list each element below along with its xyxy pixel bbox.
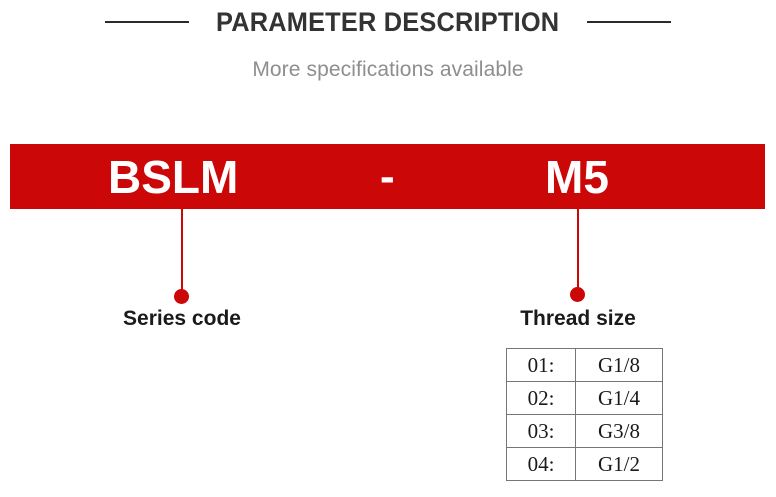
thread-value-cell: G1/4 xyxy=(576,382,663,415)
thread-size-table: 01: G1/8 02: G1/4 03: G3/8 04: G1/2 xyxy=(506,348,663,481)
model-code-banner: BSLM - M5 xyxy=(10,144,765,209)
header-rule-right-icon xyxy=(587,21,671,23)
table-row: 01: G1/8 xyxy=(507,349,663,382)
callout-line-thread-size xyxy=(577,209,579,289)
thread-value-cell: G1/8 xyxy=(576,349,663,382)
header-rule-left-icon xyxy=(105,21,189,23)
page-title: PARAMETER DESCRIPTION xyxy=(216,7,559,38)
thread-code-cell: 03: xyxy=(507,415,576,448)
callout-dot-thread-size xyxy=(570,287,585,302)
banner-series-code: BSLM xyxy=(108,144,238,209)
table-row: 04: G1/2 xyxy=(507,448,663,481)
thread-code-cell: 01: xyxy=(507,349,576,382)
table-row: 03: G3/8 xyxy=(507,415,663,448)
callout-label-series-code: Series code xyxy=(81,307,283,331)
page-subtitle: More specifications available xyxy=(0,58,776,82)
parameter-description-page: PARAMETER DESCRIPTION More specification… xyxy=(0,0,776,497)
callout-label-thread-size: Thread size xyxy=(477,307,679,331)
callout-dot-series-code xyxy=(174,289,189,304)
thread-code-cell: 02: xyxy=(507,382,576,415)
banner-thread-size: M5 xyxy=(545,144,609,209)
page-header: PARAMETER DESCRIPTION xyxy=(0,4,776,40)
thread-value-cell: G3/8 xyxy=(576,415,663,448)
table-row: 02: G1/4 xyxy=(507,382,663,415)
thread-value-cell: G1/2 xyxy=(576,448,663,481)
thread-code-cell: 04: xyxy=(507,448,576,481)
banner-separator: - xyxy=(380,144,395,209)
callout-line-series-code xyxy=(181,209,183,291)
